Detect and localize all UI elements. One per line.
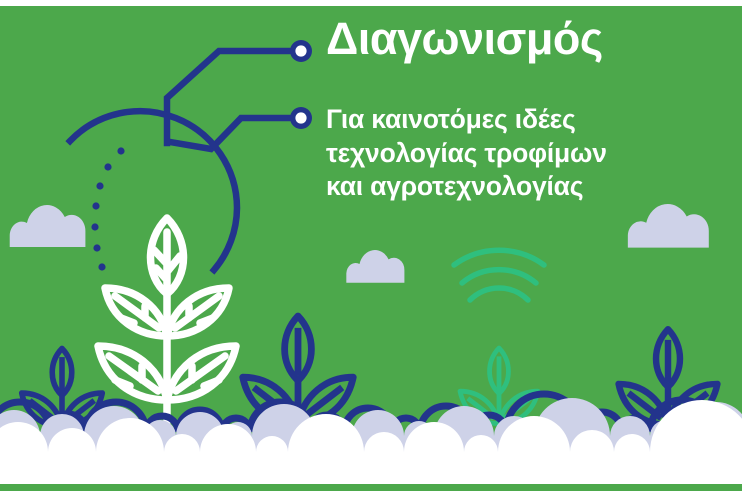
node-upper-core <box>295 45 306 56</box>
poster-canvas: Διαγωνισμός Για καινοτόμες ιδέες τεχνολο… <box>0 0 742 495</box>
poster-artwork <box>0 0 742 495</box>
bottom-green-strip <box>0 484 742 491</box>
top-white-edge <box>0 0 742 6</box>
bottom-white-edge <box>0 491 742 495</box>
node-lower-core <box>295 112 306 123</box>
